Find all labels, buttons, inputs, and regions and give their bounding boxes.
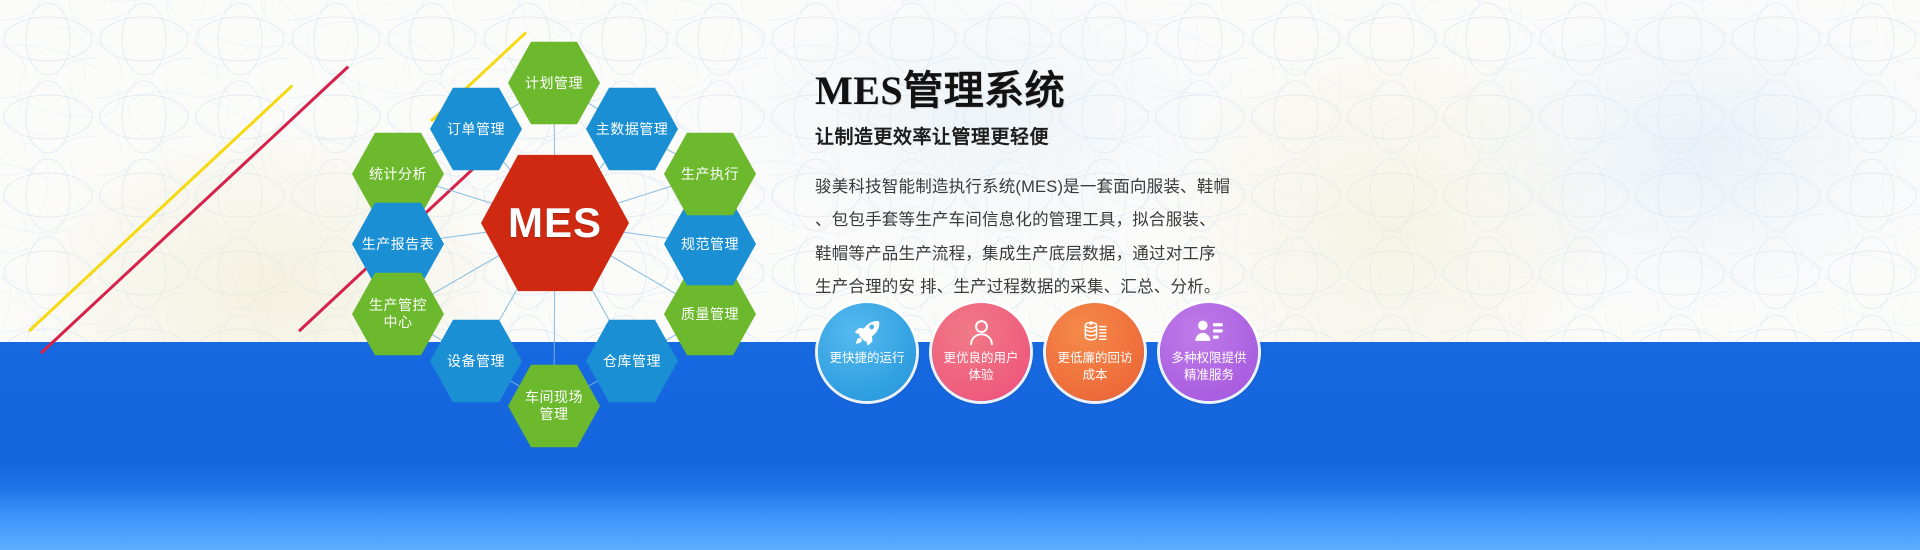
feature-badge-label: 更低廉的回访 成本	[1049, 350, 1141, 383]
hex-node-label: 规范管理	[681, 236, 739, 253]
feature-badge-label: 更快捷的运行	[821, 350, 913, 367]
hex-node-label: 车间现场 管理	[525, 389, 583, 422]
hex-node-label: 生产报告表	[362, 236, 435, 253]
hex-diagram: MES 计划管理订单管理统计分析生产报告表生产管控 中心设备管理车间现场 管理仓…	[330, 18, 780, 438]
description-line: 生产合理的安 排、生产过程数据的采集、汇总、分析。	[815, 271, 1335, 304]
hex-node-label: 仓库管理	[603, 353, 661, 370]
hex-node-label: 计划管理	[525, 75, 583, 92]
coins-icon	[1081, 317, 1110, 347]
feature-badge-faster-operation[interactable]: 更快捷的运行	[818, 303, 916, 401]
hex-node-label: 生产执行	[681, 166, 739, 183]
user-icon	[967, 317, 996, 347]
feature-badge-better-ux[interactable]: 更优良的用户 体验	[932, 303, 1030, 401]
feature-badge-label: 多种权限提供 精准服务	[1163, 350, 1255, 383]
hex-node-label: 订单管理	[447, 121, 505, 138]
feature-badge-label: 更优良的用户 体验	[935, 350, 1027, 383]
hex-node-label: 生产管控 中心	[369, 297, 427, 330]
hex-node-label: 设备管理	[447, 353, 505, 370]
decor-line-red-1	[40, 66, 349, 355]
hex-node-label: 质量管理	[681, 306, 739, 323]
description-paragraph: 骏美科技智能制造执行系统(MES)是一套面向服装、鞋帽 、包包手套等生产车间信息…	[815, 171, 1335, 304]
feature-badge-permissions[interactable]: 多种权限提供 精准服务	[1160, 303, 1258, 401]
bottom-blue-glow	[0, 488, 1920, 550]
hex-node-label: 统计分析	[369, 166, 427, 183]
page-title: MES管理系统	[815, 58, 1335, 116]
rocket-icon	[852, 317, 882, 347]
headline-block: MES管理系统 让制造更效率让管理更轻便 骏美科技智能制造执行系统(MES)是一…	[815, 58, 1335, 304]
feature-badge-row: 更快捷的运行 更优良的用户 体验	[818, 303, 1258, 401]
user-list-icon	[1194, 317, 1224, 347]
description-line: 鞋帽等产品生产流程，集成生产底层数据，通过对工序	[815, 238, 1335, 271]
page-subtitle: 让制造更效率让管理更轻便	[815, 122, 1335, 149]
banner-stage: MES 计划管理订单管理统计分析生产报告表生产管控 中心设备管理车间现场 管理仓…	[0, 0, 1920, 550]
decor-line-yellow-1	[28, 84, 293, 332]
description-line: 骏美科技智能制造执行系统(MES)是一套面向服装、鞋帽	[815, 171, 1335, 204]
hex-node-label: 主数据管理	[596, 121, 669, 138]
feature-badge-lower-cost[interactable]: 更低廉的回访 成本	[1046, 303, 1144, 401]
description-line: 、包包手套等生产车间信息化的管理工具，拟合服装、	[815, 204, 1335, 237]
